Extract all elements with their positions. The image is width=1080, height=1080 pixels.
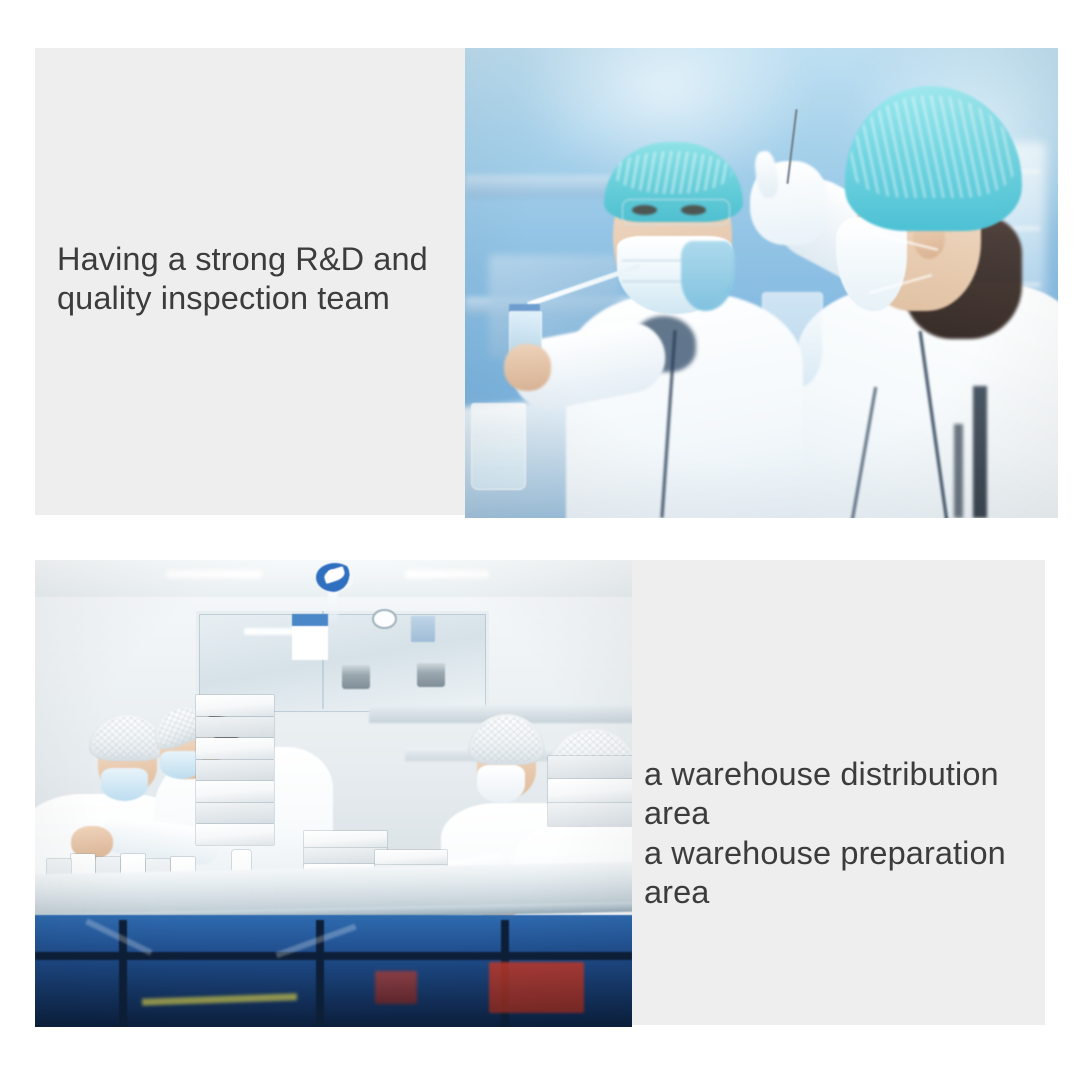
carton-stack-item: [196, 760, 274, 781]
photo-lab-quality-team: [465, 48, 1058, 518]
ceiling-light-2: [405, 570, 489, 577]
carton-stack-item: [548, 803, 632, 826]
carton-stack-item: [548, 779, 632, 802]
wall-control-panel: [411, 616, 435, 642]
ceiling-light-1: [166, 570, 262, 577]
caption-panel-rd: Having a strong R&D and quality inspecti…: [35, 48, 465, 515]
warehouse-scene: [35, 560, 632, 1027]
carton-stack-item: [548, 756, 632, 779]
worker-3-face-mask: [477, 765, 525, 802]
lab-equipment-post-secondary: [954, 424, 963, 518]
wall-notice-board: [292, 614, 328, 661]
carton-stack-item: [304, 831, 388, 848]
carton-stack-item: [196, 803, 274, 824]
technician-a-hand: [504, 344, 551, 391]
lab-equipment-post: [973, 386, 987, 518]
lab-beaker: [471, 403, 526, 490]
caption-panel-warehouse: a warehouse distribution area a warehous…: [632, 560, 1045, 1025]
stainless-canister-2: [417, 663, 444, 687]
stainless-canister-1: [342, 665, 369, 689]
carton-stack-item: [196, 695, 274, 716]
photo-warehouse-packing: [35, 560, 632, 1027]
carton-stack-item: [196, 824, 274, 845]
red-crate: [489, 962, 585, 1013]
carton-stack-item: [375, 850, 447, 866]
caption-text-rd: Having a strong R&D and quality inspecti…: [57, 240, 457, 319]
lab-scene: [465, 48, 1058, 518]
section-warehouse-areas: a warehouse distribution area a warehous…: [35, 560, 1045, 1027]
technician-a-hair-net-texture: [613, 151, 732, 193]
caption-text-warehouse: a warehouse distribution area a warehous…: [644, 755, 1044, 912]
wall-clock: [372, 609, 396, 629]
section-rd-quality-inspection: Having a strong R&D and quality inspecti…: [35, 48, 1058, 518]
carton-stack-item: [196, 717, 274, 738]
carton-stack-item: [196, 781, 274, 802]
worker-1-face-mask: [101, 768, 149, 801]
showcase-page: Having a strong R&D and quality inspecti…: [0, 0, 1080, 1080]
red-crate-secondary: [375, 971, 417, 1004]
carton-stack-item: [196, 738, 274, 759]
